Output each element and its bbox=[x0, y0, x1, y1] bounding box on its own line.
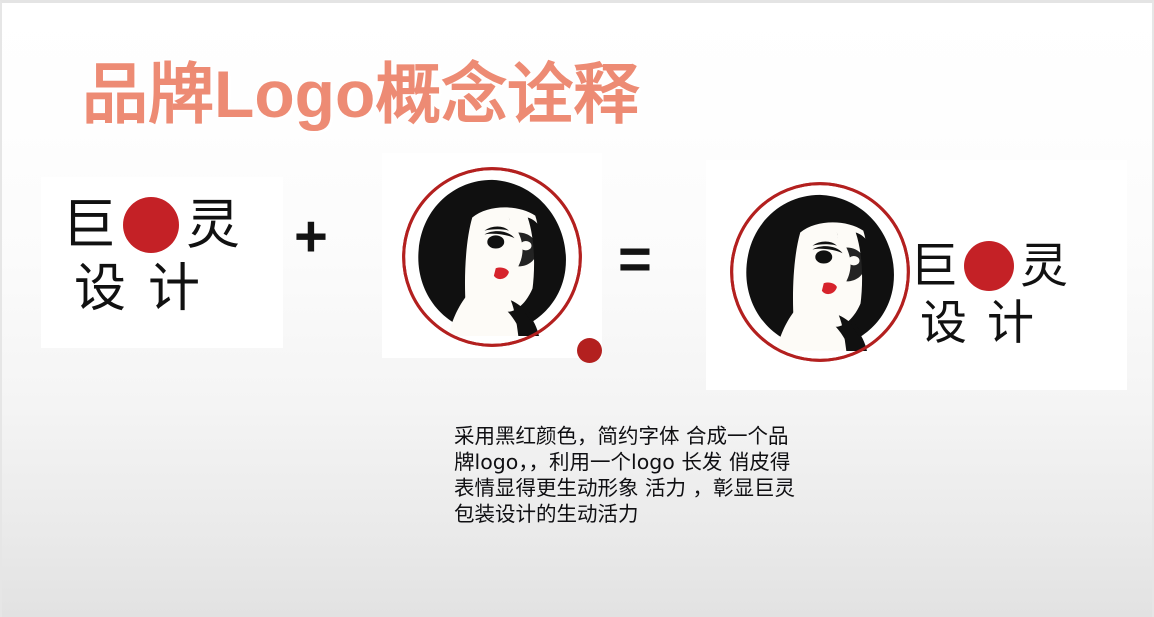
caption-line-4: 包装设计的生动活力 bbox=[454, 501, 854, 527]
wordmark-char-ju: 巨 bbox=[910, 242, 958, 290]
brand-wordmark-right: 巨 灵 设 计 bbox=[910, 241, 1068, 347]
wordmark-char-ling: 灵 bbox=[186, 198, 240, 252]
page-title: 品牌Logo概念诠释 bbox=[82, 61, 639, 127]
wordmark-top-row: 巨 灵 bbox=[910, 241, 1068, 291]
wordmark-char-ju: 巨 bbox=[62, 198, 116, 252]
plus-operator: + bbox=[294, 208, 328, 266]
wordmark-bottom-row: 设 计 bbox=[62, 263, 240, 315]
caption-line-3: 表情显得更生动形象 活力 ，彰显巨灵 bbox=[454, 475, 854, 501]
wordmark-char-she: 设 bbox=[920, 300, 987, 347]
wordmark-bottom-row: 设 计 bbox=[910, 300, 1068, 347]
brand-wordmark-left: 巨 灵 设 计 bbox=[62, 197, 240, 315]
caption-line-1: 采用黑红颜色，简约字体 合成一个品 bbox=[454, 423, 854, 449]
presentation-slide: 品牌Logo概念诠释 巨 灵 设 计 + bbox=[0, 0, 1154, 617]
equals-operator: = bbox=[618, 231, 652, 289]
wordmark-char-she: 设 bbox=[74, 263, 148, 315]
woman-logomark-icon-combined bbox=[726, 178, 914, 366]
accent-red-dot bbox=[577, 338, 602, 363]
wordmark-top-row: 巨 灵 bbox=[62, 197, 240, 253]
caption-block: 采用黑红颜色，简约字体 合成一个品 牌logo，，利用一个logo 长发 俏皮得… bbox=[454, 423, 854, 527]
wordmark-char-ling: 灵 bbox=[1020, 242, 1068, 290]
woman-logomark-icon bbox=[394, 163, 590, 351]
wordmark-char-ji: 计 bbox=[987, 300, 1054, 347]
wordmark-red-dot bbox=[123, 197, 179, 253]
wordmark-red-dot bbox=[964, 241, 1014, 291]
caption-line-2: 牌logo，，利用一个logo 长发 俏皮得 bbox=[454, 449, 854, 475]
wordmark-char-ji: 计 bbox=[148, 263, 222, 315]
